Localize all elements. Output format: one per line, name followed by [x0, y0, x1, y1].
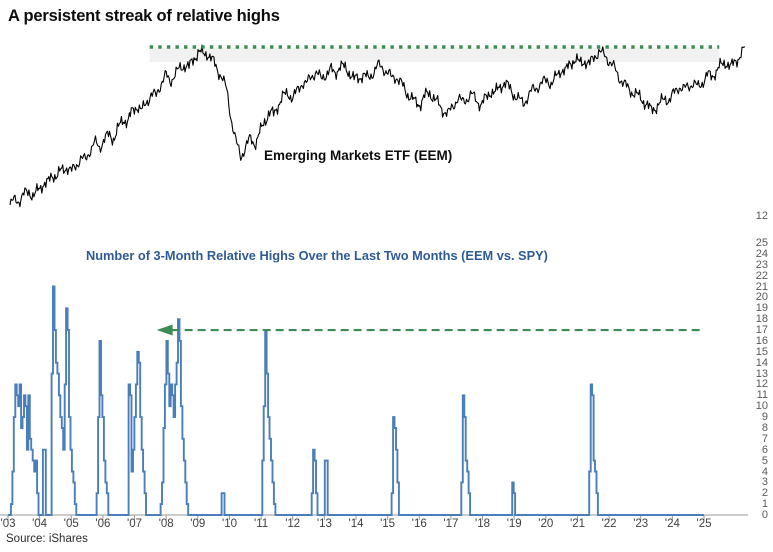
- source-note: Source: iShares: [6, 533, 88, 545]
- chart-page: A persistent streak of relative highs Em…: [0, 0, 773, 552]
- x-tick-07: '07: [127, 518, 142, 530]
- x-tick-21: '21: [570, 518, 585, 530]
- x-tick-09: '09: [190, 518, 205, 530]
- x-tick-08: '08: [159, 518, 174, 530]
- x-tick-12: '12: [285, 518, 300, 530]
- x-tick-24: '24: [665, 518, 680, 530]
- x-tick-16: '16: [412, 518, 427, 530]
- x-tick-22: '22: [602, 518, 617, 530]
- x-tick-06: '06: [95, 518, 110, 530]
- x-tick-13: '13: [317, 518, 332, 530]
- x-tick-17: '17: [443, 518, 458, 530]
- x-tick-14: '14: [349, 518, 364, 530]
- x-axis-bottom: '03'04'05'06'07'08'09'10'11'12'13'14'15'…: [0, 0, 773, 552]
- x-tick-05: '05: [64, 518, 79, 530]
- x-tick-04: '04: [32, 518, 47, 530]
- x-tick-10: '10: [222, 518, 237, 530]
- x-tick-18: '18: [475, 518, 490, 530]
- x-tick-25: '25: [697, 518, 712, 530]
- x-tick-19: '19: [507, 518, 522, 530]
- x-tick-11: '11: [254, 518, 268, 530]
- x-tick-23: '23: [633, 518, 648, 530]
- x-tick-15: '15: [380, 518, 395, 530]
- x-tick-03: '03: [1, 518, 16, 530]
- x-tick-20: '20: [538, 518, 553, 530]
